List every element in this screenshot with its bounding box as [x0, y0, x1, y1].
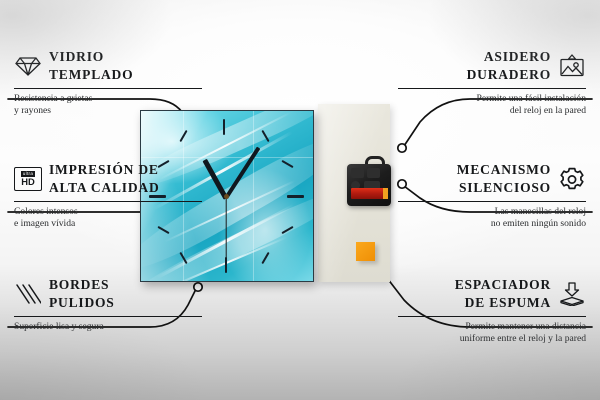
feature-title: MECANISMO SILENCIOSO [457, 161, 551, 197]
polished-edges-icon [14, 281, 42, 307]
divider [398, 88, 586, 89]
feature-header: BORDES PULIDOS [14, 276, 202, 312]
feature-description: Las manecillas del reloj no emiten ningú… [398, 206, 586, 229]
feature-header: VIDRIO TEMPLADO [14, 48, 202, 84]
anchor-dot-asidero [398, 144, 406, 152]
gear-icon [558, 166, 586, 192]
feature-vidrio-templado: VIDRIO TEMPLADO Resistencia a grietas y … [14, 48, 202, 116]
feature-title: ASIDERO DURADERO [467, 48, 551, 84]
ultra-hd-icon: ultra HD [14, 166, 42, 192]
feature-header: ultra HD IMPRESIÓN DE ALTA CALIDAD [14, 161, 202, 197]
divider [398, 201, 586, 202]
mechanism-battery [351, 188, 387, 199]
feature-description: Permite mantener una distancia uniforme … [398, 321, 586, 344]
feature-title: BORDES PULIDOS [49, 276, 115, 312]
divider [14, 201, 202, 202]
feature-header: MECANISMO SILENCIOSO [398, 161, 586, 197]
foam-spacer [356, 242, 375, 261]
feature-title: VIDRIO TEMPLADO [49, 48, 133, 84]
feature-header: ASIDERO DURADERO [398, 48, 586, 84]
divider [398, 316, 586, 317]
feature-espaciador-de-espuma: ESPACIADOR DE ESPUMA Permite mantener un… [398, 276, 586, 344]
clock-mechanism [347, 164, 391, 206]
feature-mecanismo-silencioso: MECANISMO SILENCIOSO Las manecillas del … [398, 161, 586, 229]
clock-hub [224, 194, 229, 199]
feature-impresion-alta-calidad: ultra HD IMPRESIÓN DE ALTA CALIDAD Color… [14, 161, 202, 229]
feature-bordes-pulidos: BORDES PULIDOS Superficie lisa y segura [14, 276, 202, 333]
diamond-icon [14, 53, 42, 79]
feature-title: ESPACIADOR DE ESPUMA [455, 276, 551, 312]
feature-description: Permite una fácil instalación del reloj … [398, 93, 586, 116]
clock-hand-second [225, 197, 226, 259]
battery-terminal [383, 188, 388, 199]
divider [14, 316, 202, 317]
feature-description: Resistencia a grietas y rayones [14, 93, 202, 116]
feature-header: ESPACIADOR DE ESPUMA [398, 276, 586, 312]
picture-hanger-icon [558, 53, 586, 79]
foam-spacer-icon [558, 281, 586, 307]
feature-asidero-duradero: ASIDERO DURADERO Permite una fácil insta… [398, 48, 586, 116]
divider [14, 88, 202, 89]
feature-description: Colores intensos e imagen vívida [14, 206, 202, 229]
infographic-canvas: VIDRIO TEMPLADO Resistencia a grietas y … [0, 0, 600, 400]
feature-description: Superficie lisa y segura [14, 321, 202, 333]
feature-title: IMPRESIÓN DE ALTA CALIDAD [49, 161, 160, 197]
